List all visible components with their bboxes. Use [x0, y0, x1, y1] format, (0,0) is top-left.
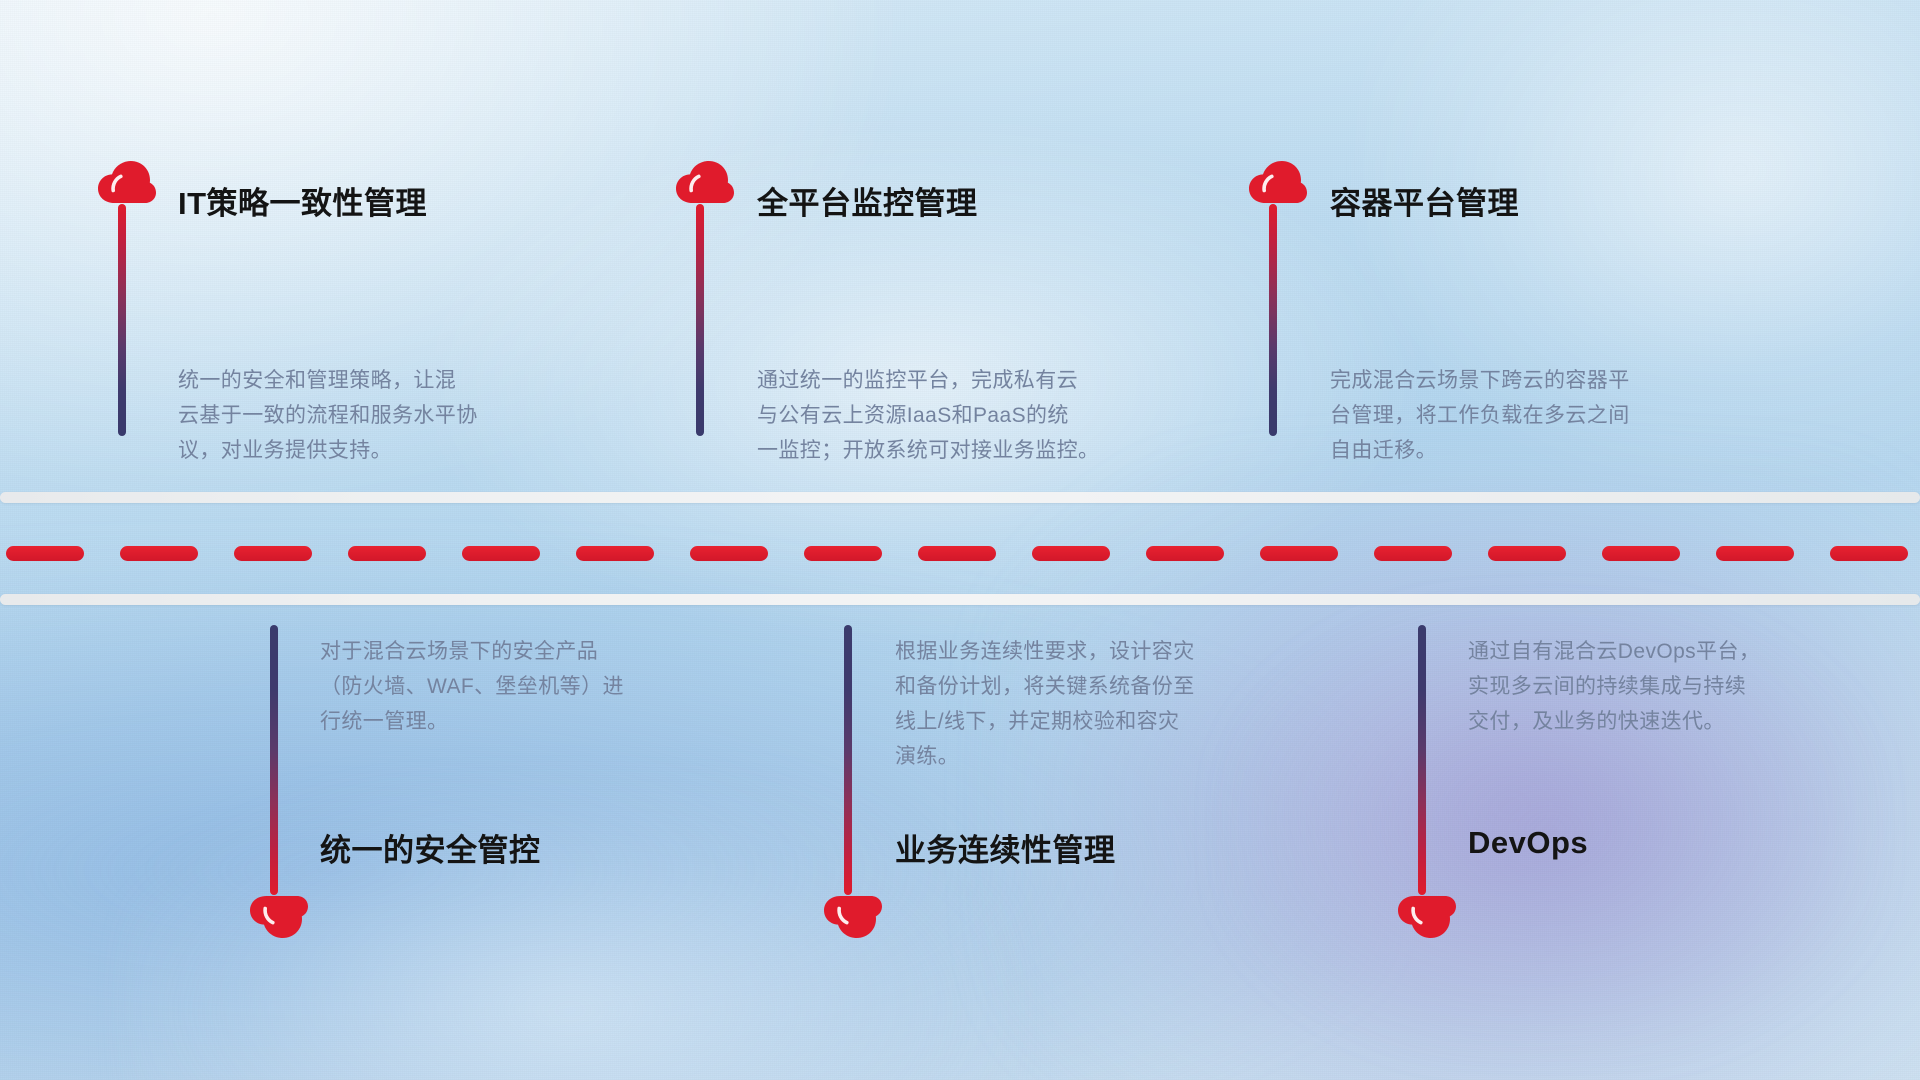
pin-stem-top-1: [118, 204, 126, 436]
body-line-2: 云基于一致的流程和服务水平协: [178, 398, 478, 433]
divider-rail-top: [0, 492, 1920, 503]
body-line-1: 完成混合云场景下跨云的容器平: [1330, 363, 1630, 398]
bottom-title-2: 业务连续性管理: [895, 825, 1116, 870]
top-title-1: IT策略一致性管理: [178, 178, 427, 223]
pin-stem-bottom-2: [844, 625, 852, 895]
body-line-3: 议，对业务提供支持。: [178, 433, 478, 468]
bottom-title-1: 统一的安全管控: [320, 825, 541, 870]
divider-dash: [1374, 546, 1452, 561]
body-line-3: 自由迁移。: [1330, 433, 1630, 468]
top-body-3: 完成混合云场景下跨云的容器平台管理，将工作负载在多云之间自由迁移。: [1330, 363, 1630, 468]
pin-marker-top-1: [96, 160, 158, 436]
body-line-3: 一监控；开放系统可对接业务监控。: [757, 433, 1099, 468]
divider-rail-bottom: [0, 594, 1920, 605]
body-line-1: 通过自有混合云DevOps平台，: [1468, 634, 1760, 669]
pin-marker-top-3: [1247, 160, 1309, 436]
cloud-icon: [1396, 895, 1458, 939]
divider-dash: [1830, 546, 1908, 561]
divider-dash: [1716, 546, 1794, 561]
divider-dash: [1260, 546, 1338, 561]
top-body-2: 通过统一的监控平台，完成私有云与公有云上资源IaaS和PaaS的统一监控；开放系…: [757, 363, 1099, 468]
body-line-2: 实现多云间的持续集成与持续: [1468, 669, 1760, 704]
pin-marker-bottom-1: [248, 625, 310, 939]
infographic-canvas: IT策略一致性管理 统一的安全和管理策略，让混云基于一致的流程和服务水平协议，对…: [0, 0, 1920, 1080]
body-line-1: 对于混合云场景下的安全产品: [320, 634, 624, 669]
pin-marker-top-2: [674, 160, 736, 436]
divider-dash: [462, 546, 540, 561]
body-line-4: 演练。: [895, 739, 1195, 774]
body-line-1: 统一的安全和管理策略，让混: [178, 363, 478, 398]
divider-dash: [1032, 546, 1110, 561]
body-line-2: 与公有云上资源IaaS和PaaS的统: [757, 398, 1099, 433]
divider-dash: [234, 546, 312, 561]
divider-dash: [1146, 546, 1224, 561]
pin-stem-top-2: [696, 204, 704, 436]
divider-dash: [804, 546, 882, 561]
body-line-1: 根据业务连续性要求，设计容灾: [895, 634, 1195, 669]
top-title-3: 容器平台管理: [1330, 178, 1519, 223]
cloud-icon: [822, 895, 884, 939]
body-line-3: 交付，及业务的快速迭代。: [1468, 704, 1760, 739]
pin-stem-bottom-1: [270, 625, 278, 895]
pin-stem-top-3: [1269, 204, 1277, 436]
body-line-2: 和备份计划，将关键系统备份至: [895, 669, 1195, 704]
top-body-1: 统一的安全和管理策略，让混云基于一致的流程和服务水平协议，对业务提供支持。: [178, 363, 478, 468]
body-line-3: 线上/线下，并定期校验和容灾: [895, 704, 1195, 739]
cloud-icon: [96, 160, 158, 204]
divider-dash: [120, 546, 198, 561]
divider-dash: [576, 546, 654, 561]
pin-marker-bottom-3: [1396, 625, 1458, 939]
cloud-icon: [674, 160, 736, 204]
body-line-2: （防火墙、WAF、堡垒机等）进: [320, 669, 624, 704]
cloud-icon: [1247, 160, 1309, 204]
body-line-1: 通过统一的监控平台，完成私有云: [757, 363, 1099, 398]
body-line-3: 行统一管理。: [320, 704, 624, 739]
top-title-2: 全平台监控管理: [757, 178, 978, 223]
divider-dashed-center-line: [0, 546, 1920, 561]
divider-dash: [1488, 546, 1566, 561]
pin-stem-bottom-3: [1418, 625, 1426, 895]
divider-dash: [918, 546, 996, 561]
bottom-title-3: DevOps: [1468, 825, 1588, 861]
body-line-2: 台管理，将工作负载在多云之间: [1330, 398, 1630, 433]
divider-dash: [690, 546, 768, 561]
divider-dash: [6, 546, 84, 561]
divider-dash: [348, 546, 426, 561]
cloud-icon: [248, 895, 310, 939]
bottom-body-3: 通过自有混合云DevOps平台，实现多云间的持续集成与持续交付，及业务的快速迭代…: [1468, 634, 1760, 739]
bottom-body-2: 根据业务连续性要求，设计容灾和备份计划，将关键系统备份至线上/线下，并定期校验和…: [895, 634, 1195, 774]
pin-marker-bottom-2: [822, 625, 884, 939]
bottom-body-1: 对于混合云场景下的安全产品（防火墙、WAF、堡垒机等）进行统一管理。: [320, 634, 624, 739]
divider-dash: [1602, 546, 1680, 561]
